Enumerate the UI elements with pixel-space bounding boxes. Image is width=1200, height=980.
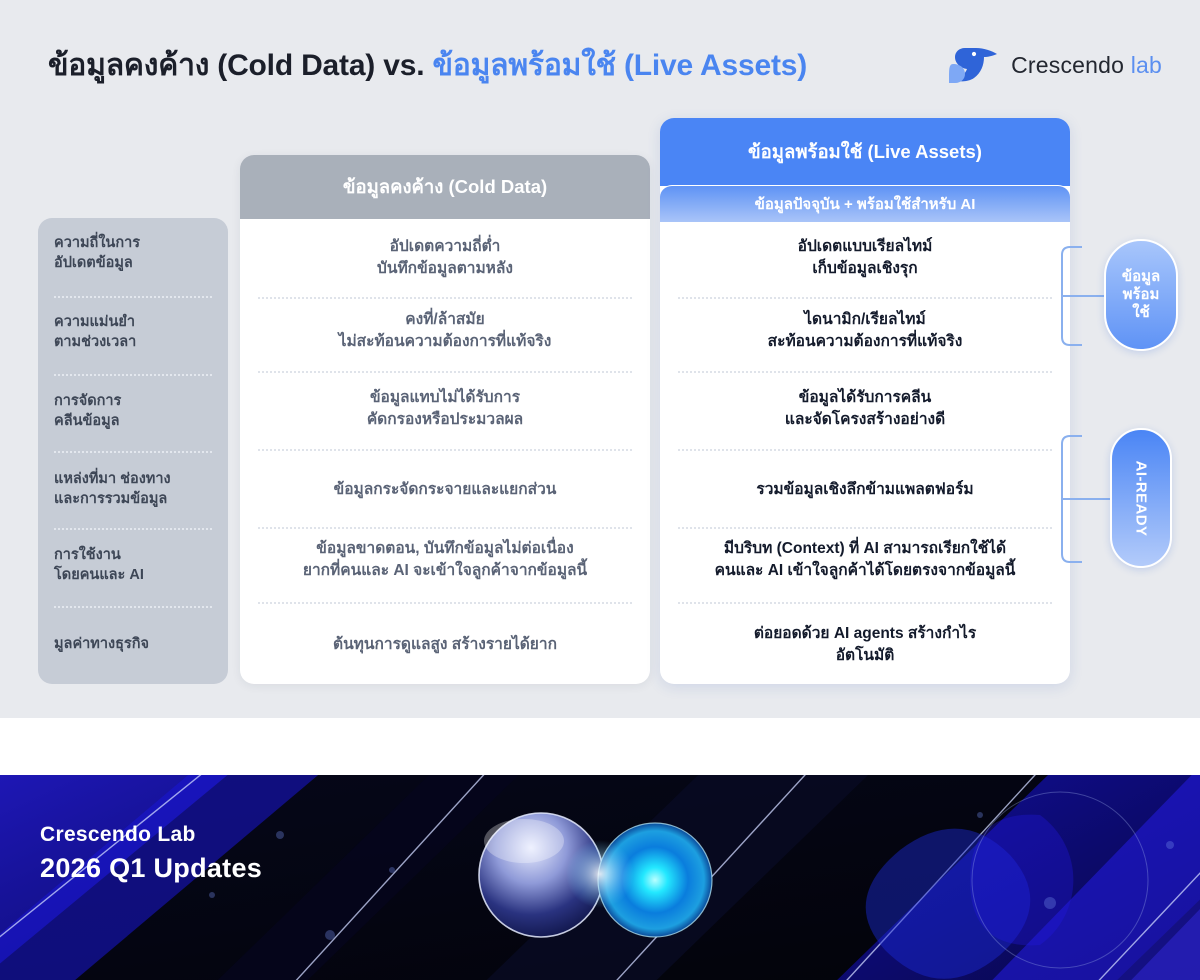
- comparison-row: ข้อมูลขาดตอน, บันทึกข้อมูลไม่ต่อเนื่อง ย…: [240, 530, 650, 590]
- slide-root: ข้อมูลคงค้าง (Cold Data) vs. ข้อมูลพร้อม…: [0, 0, 1200, 980]
- criteria-row: การใช้งาน โดยคนและ AI: [38, 540, 228, 592]
- comparison-grid: ความถี่ในการ อัปเดตข้อมูลความแม่นยำ ตามช…: [0, 0, 1200, 718]
- cold-data-card: ข้อมูลคงค้าง (Cold Data) อัปเดตความถี่ต่…: [240, 155, 650, 684]
- comparison-row: ข้อมูลกระจัดกระจายและแยกส่วน: [240, 460, 650, 520]
- criteria-label: มูลค่าทางธุรกิจ: [54, 635, 149, 655]
- criteria-divider: [54, 528, 212, 530]
- comparison-row-text: ต่อยอดด้วย AI agents สร้างกำไร อัตโนมัติ: [754, 623, 976, 667]
- live-assets-card: ข้อมูลพร้อมใช้ (Live Assets) ข้อมูลปัจจุ…: [660, 118, 1070, 684]
- criteria-row: มูลค่าทางธุรกิจ: [38, 619, 228, 671]
- banner-subject: 2026 Q1 Updates: [40, 853, 262, 884]
- footer-banner: Crescendo Lab 2026 Q1 Updates: [0, 775, 1200, 980]
- bracket-connector-live: [1060, 245, 1110, 347]
- badge-ai-ready: AI-READY: [1110, 428, 1172, 568]
- comparison-row-text: อัปเดตแบบเรียลไทม์ เก็บข้อมูลเชิงรุก: [798, 236, 933, 280]
- row-divider: [258, 449, 632, 451]
- criteria-label: ความถี่ในการ อัปเดตข้อมูล: [54, 234, 140, 273]
- comparison-row-text: ข้อมูลกระจัดกระจายและแยกส่วน: [334, 479, 557, 501]
- criteria-row: ความแม่นยำ ตามช่วงเวลา: [38, 307, 228, 359]
- cold-data-header: ข้อมูลคงค้าง (Cold Data): [240, 155, 650, 219]
- comparison-row-text: มีบริบท (Context) ที่ AI สามารถเรียกใช้ไ…: [715, 538, 1016, 582]
- bracket-connector-ai: [1060, 434, 1115, 564]
- cold-data-heading: ข้อมูลคงค้าง (Cold Data): [343, 173, 547, 202]
- comparison-row: ข้อมูลแทบไม่ได้รับการ คัดกรองหรือประมวลผ…: [240, 379, 650, 439]
- comparison-row: อัปเดตความถี่ต่ำ บันทึกข้อมูลตามหลัง: [240, 228, 650, 288]
- comparison-row-text: รวมข้อมูลเชิงลึกข้ามแพลตฟอร์ม: [756, 479, 973, 501]
- live-assets-heading: ข้อมูลพร้อมใช้ (Live Assets): [748, 138, 982, 167]
- criteria-label: การจัดการ คลีนข้อมูล: [54, 392, 121, 431]
- row-divider: [678, 602, 1052, 604]
- comparison-row-text: ต้นทุนการดูแลสูง สร้างรายได้ยาก: [333, 634, 557, 656]
- comparison-row: ต่อยอดด้วย AI agents สร้างกำไร อัตโนมัติ: [660, 615, 1070, 675]
- row-divider: [678, 297, 1052, 299]
- row-divider: [678, 527, 1052, 529]
- row-divider: [258, 602, 632, 604]
- comparison-row-text: ไดนามิก/เรียลไทม์ สะท้อนความต้องการที่แท…: [768, 309, 963, 353]
- comparison-row-text: ข้อมูลขาดตอน, บันทึกข้อมูลไม่ต่อเนื่อง ย…: [303, 538, 587, 582]
- banner-brand: Crescendo Lab: [40, 823, 262, 847]
- comparison-row-text: ข้อมูลได้รับการคลีน และจัดโครงสร้างอย่าง…: [785, 387, 945, 431]
- criteria-divider: [54, 451, 212, 453]
- row-divider: [678, 371, 1052, 373]
- criteria-divider: [54, 374, 212, 376]
- comparison-row: ต้นทุนการดูแลสูง สร้างรายได้ยาก: [240, 615, 650, 675]
- comparison-row: ไดนามิก/เรียลไทม์ สะท้อนความต้องการที่แท…: [660, 301, 1070, 361]
- row-divider: [258, 527, 632, 529]
- criteria-divider: [54, 296, 212, 298]
- criteria-row: ความถี่ในการ อัปเดตข้อมูล: [38, 228, 228, 280]
- criteria-divider: [54, 606, 212, 608]
- comparison-row: รวมข้อมูลเชิงลึกข้ามแพลตฟอร์ม: [660, 460, 1070, 520]
- row-divider: [258, 297, 632, 299]
- comparison-row: ข้อมูลได้รับการคลีน และจัดโครงสร้างอย่าง…: [660, 379, 1070, 439]
- comparison-row: คงที่/ล้าสมัย ไม่สะท้อนความต้องการที่แท้…: [240, 301, 650, 361]
- live-assets-header: ข้อมูลพร้อมใช้ (Live Assets): [660, 118, 1070, 186]
- comparison-row-text: อัปเดตความถี่ต่ำ บันทึกข้อมูลตามหลัง: [377, 236, 513, 280]
- comparison-row: อัปเดตแบบเรียลไทม์ เก็บข้อมูลเชิงรุก: [660, 228, 1070, 288]
- criteria-label: แหล่งที่มา ช่องทาง และการรวมข้อมูล: [54, 470, 171, 509]
- row-divider: [258, 371, 632, 373]
- comparison-row-text: คงที่/ล้าสมัย ไม่สะท้อนความต้องการที่แท้…: [339, 309, 552, 353]
- badge-ai-ready-label: AI-READY: [1133, 460, 1150, 536]
- criteria-label: การใช้งาน โดยคนและ AI: [54, 546, 144, 585]
- badge-live-assets-label: ข้อมูล พร้อม ใช้: [1122, 268, 1160, 323]
- live-assets-subheader: ข้อมูลปัจจุบัน + พร้อมใช้สำหรับ AI: [660, 185, 1070, 222]
- criteria-row: แหล่งที่มา ช่องทาง และการรวมข้อมูล: [38, 464, 228, 516]
- live-assets-subheading: ข้อมูลปัจจุบัน + พร้อมใช้สำหรับ AI: [755, 192, 976, 216]
- comparison-row: มีบริบท (Context) ที่ AI สามารถเรียกใช้ไ…: [660, 530, 1070, 590]
- badge-live-assets: ข้อมูล พร้อม ใช้: [1104, 239, 1178, 351]
- comparison-row-text: ข้อมูลแทบไม่ได้รับการ คัดกรองหรือประมวลผ…: [367, 387, 523, 431]
- criteria-row: การจัดการ คลีนข้อมูล: [38, 386, 228, 438]
- criteria-label: ความแม่นยำ ตามช่วงเวลา: [54, 313, 136, 352]
- criteria-column: ความถี่ในการ อัปเดตข้อมูลความแม่นยำ ตามช…: [38, 218, 228, 684]
- row-divider: [678, 449, 1052, 451]
- banner-caption: Crescendo Lab 2026 Q1 Updates: [40, 823, 262, 884]
